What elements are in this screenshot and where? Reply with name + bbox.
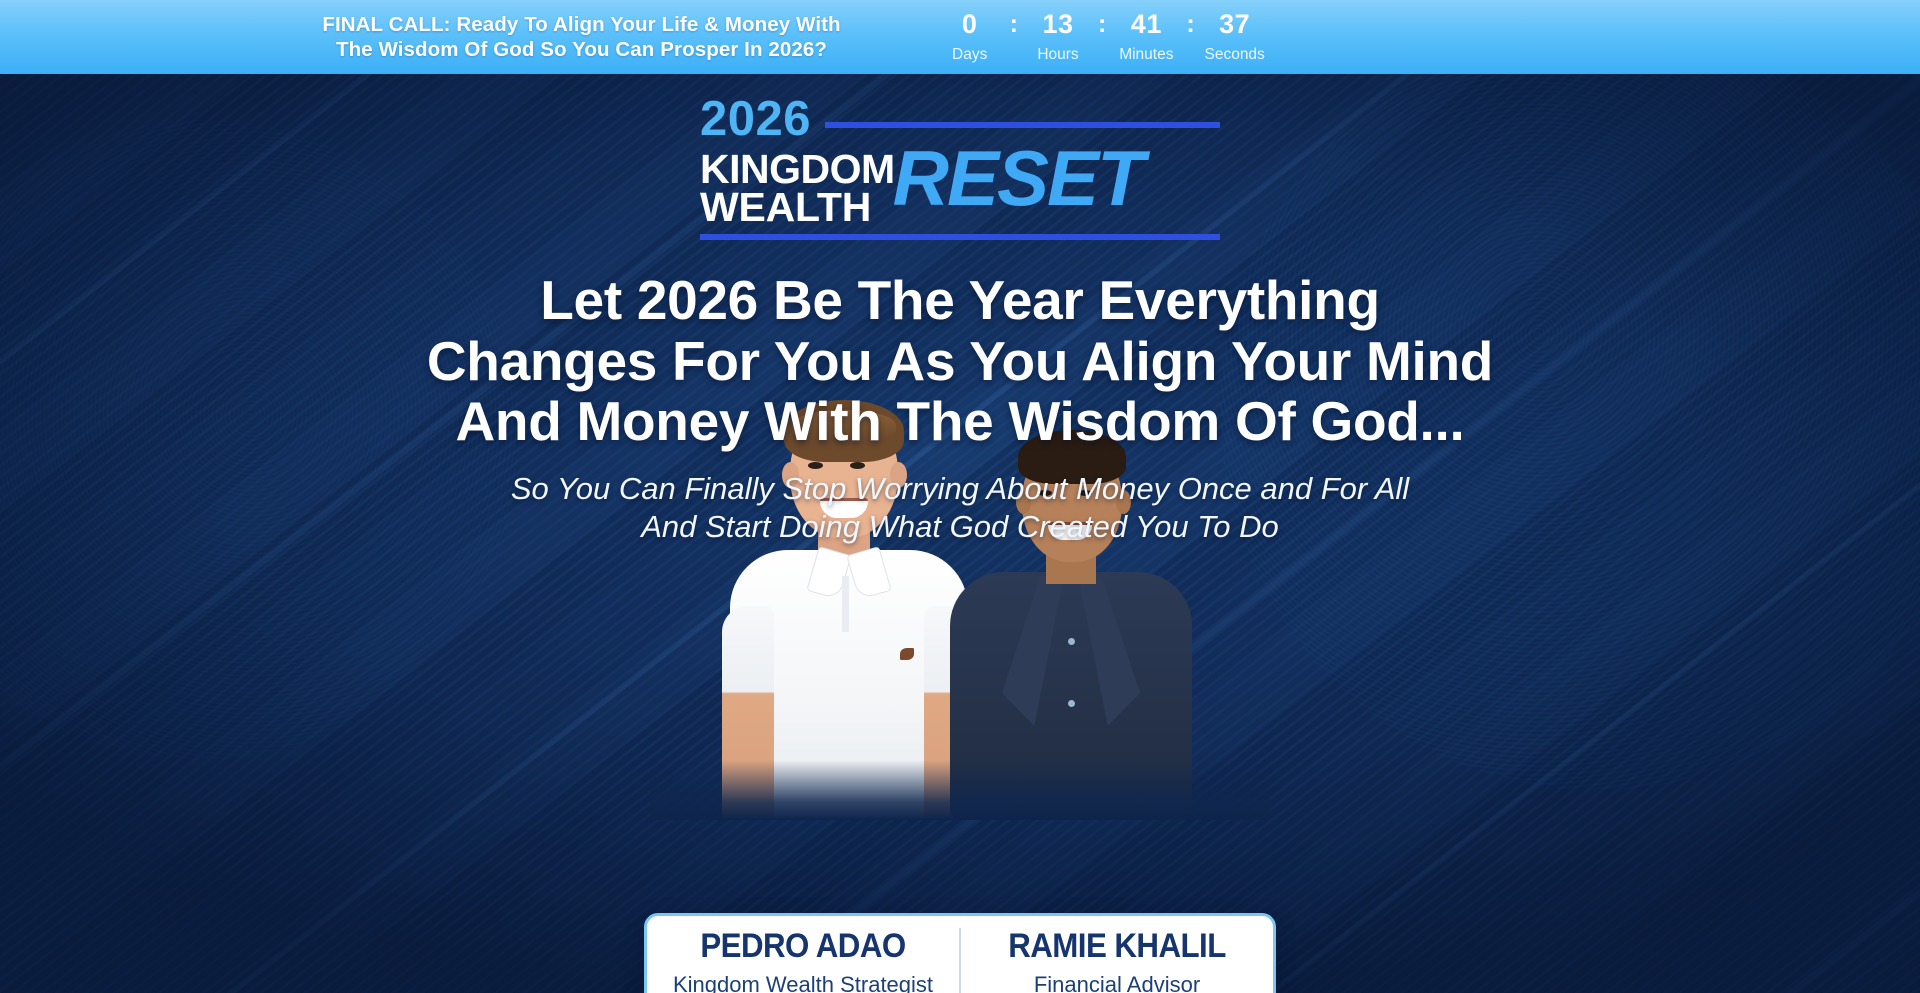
countdown-minutes: 41 Minutes [1113,11,1179,63]
logo-year: 2026 [700,95,811,144]
logo-kingdom-wealth: KINGDOM WEALTH [700,150,895,226]
countdown-minutes-label: Minutes [1119,47,1173,63]
headline-line-3: And Money With The Wisdom Of God... [380,391,1540,452]
nameplate-column-2: RAMIE KHALIL Financial Advisor [961,916,1273,993]
countdown-hours-value: 13 [1042,11,1073,38]
speaker-nameplate: PEDRO ADAO Kingdom Wealth Strategist RAM… [644,913,1276,993]
logo-main-row: KINGDOM WEALTH RESET [700,150,1220,226]
speaker-role-2: Financial Advisor [961,974,1273,993]
countdown-hours: 13 Hours [1025,11,1091,63]
speaker-name-2: RAMIE KHALIL [973,929,1260,963]
countdown-separator-1: : [1003,11,1025,37]
headline-line-1: Let 2026 Be The Year Everything [380,270,1540,331]
hero-section: 2026 KINGDOM WEALTH RESET Let 2026 Be Th… [0,74,1920,993]
countdown-separator-3: : [1179,11,1201,37]
banner-line-1: FINAL CALL: Ready To Align Your Life & M… [322,13,840,36]
countdown-days: 0 Days [937,11,1003,63]
banner-headline: FINAL CALL: Ready To Align Your Life & M… [322,12,840,62]
headline-line-2: Changes For You As You Align Your Mind [380,331,1540,392]
countdown-seconds-label: Seconds [1204,47,1264,63]
countdown-seconds-value: 37 [1219,11,1250,38]
countdown-separator-2: : [1091,11,1113,37]
countdown-banner: FINAL CALL: Ready To Align Your Life & M… [0,0,1920,74]
countdown-hours-label: Hours [1037,47,1078,63]
logo-word-kingdom: KINGDOM [700,150,895,188]
subheadline-line-2: And Start Doing What God Created You To … [440,508,1480,546]
banner-line-2: The Wisdom Of God So You Can Prosper In … [322,37,840,62]
landing-page: FINAL CALL: Ready To Align Your Life & M… [0,0,1920,993]
countdown-seconds: 37 Seconds [1202,11,1268,63]
speaker-role-1: Kingdom Wealth Strategist [647,974,959,993]
countdown-days-value: 0 [962,11,978,38]
logo-word-wealth: WEALTH [700,188,895,226]
event-logo: 2026 KINGDOM WEALTH RESET [700,92,1220,240]
subheadline-line-1: So You Can Finally Stop Worrying About M… [440,470,1480,508]
countdown-days-label: Days [952,47,987,63]
speaker-name-1: PEDRO ADAO [659,929,946,963]
logo-rule-bottom [700,234,1220,240]
page-title: Let 2026 Be The Year Everything Changes … [380,270,1540,452]
countdown-minutes-value: 41 [1131,11,1162,38]
logo-rule-top [825,122,1220,128]
page-subtitle: So You Can Finally Stop Worrying About M… [440,470,1480,546]
nameplate-column-1: PEDRO ADAO Kingdom Wealth Strategist [647,916,959,993]
countdown-timer: 0 Days : 13 Hours : 41 Minutes : 37 Seco… [937,11,1268,63]
logo-word-reset: RESET [893,146,1143,212]
